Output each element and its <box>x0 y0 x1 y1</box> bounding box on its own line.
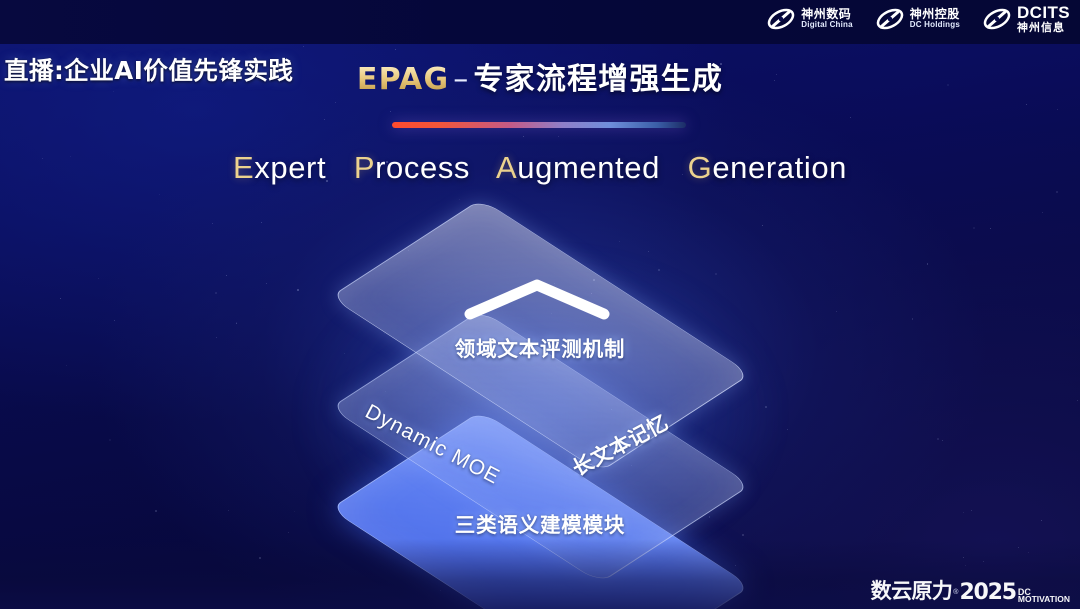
logo-dc-holdings-cn: 神州控股 <box>910 8 960 21</box>
acronym-expansion: Expert Process Augmented Generation <box>0 150 1080 186</box>
logo-dcits-cn: 神州信息 <box>1017 22 1070 34</box>
stack-layer-top-label: 领域文本评测机制 <box>0 332 1080 362</box>
acronym-word-augmented: Augmented <box>496 150 660 185</box>
acronym-cap-p: P <box>354 150 375 185</box>
watermark-year: 2025 <box>959 580 1015 605</box>
logo-digital-china-text: 神州数码 Digital China <box>801 8 853 29</box>
logo-dc-holdings: 神州控股 DC Holdings <box>875 6 960 32</box>
watermark-dc-motivation: DC MOTIVATION <box>1018 588 1070 604</box>
swoosh-icon <box>875 6 905 32</box>
acronym-rest-augmented: ugmented <box>517 150 660 185</box>
acronym-cap-a: A <box>496 150 517 185</box>
logo-digital-china-cn: 神州数码 <box>801 8 853 21</box>
headline-chinese: 专家流程增强生成 <box>473 62 723 97</box>
brand-watermark-bottom-right: 数云原力 ® 2025 DC MOTIVATION <box>871 575 1070 605</box>
acronym-word-expert: Expert <box>233 150 326 185</box>
acronym-cap-e: E <box>233 150 254 185</box>
logo-dc-holdings-en: DC Holdings <box>910 21 960 29</box>
stack-layer-bottom-label: 三类语义建模模块 <box>0 508 1080 538</box>
acronym-word-generation: Generation <box>688 150 847 185</box>
acronym-rest-process: rocess <box>375 150 470 185</box>
headline-acronym: EPAG <box>357 62 449 97</box>
logo-dc-holdings-text: 神州控股 DC Holdings <box>910 8 960 29</box>
watermark-name-cn: 数云原力 <box>871 575 953 605</box>
partner-logo-cluster: 神州数码 Digital China 神州控股 DC Holdings <box>766 4 1070 33</box>
acronym-word-process: Process <box>354 150 470 185</box>
swoosh-icon <box>982 6 1012 32</box>
logo-dcits-en: DCITS <box>1017 4 1070 22</box>
acronym-rest-expert: xpert <box>254 150 326 185</box>
logo-digital-china: 神州数码 Digital China <box>766 6 853 32</box>
accent-gradient-bar <box>392 122 686 128</box>
headline-dash: – <box>453 62 469 97</box>
live-session-label: 直播:企业AI价值先锋实践 <box>4 52 293 87</box>
watermark-registered-mark: ® <box>953 589 958 596</box>
presentation-slide: 数云原力 ® 2025 DC MOTIVATION 直播:企业AI价值先锋实践 … <box>0 0 1080 609</box>
acronym-cap-g: G <box>688 150 713 185</box>
logo-digital-china-en: Digital China <box>801 21 853 29</box>
logo-dcits: DCITS 神州信息 <box>982 4 1070 33</box>
acronym-rest-generation: eneration <box>712 150 847 185</box>
watermark-dc-line2: MOTIVATION <box>1018 596 1070 604</box>
logo-dcits-text: DCITS 神州信息 <box>1017 4 1070 33</box>
swoosh-icon <box>766 6 796 32</box>
